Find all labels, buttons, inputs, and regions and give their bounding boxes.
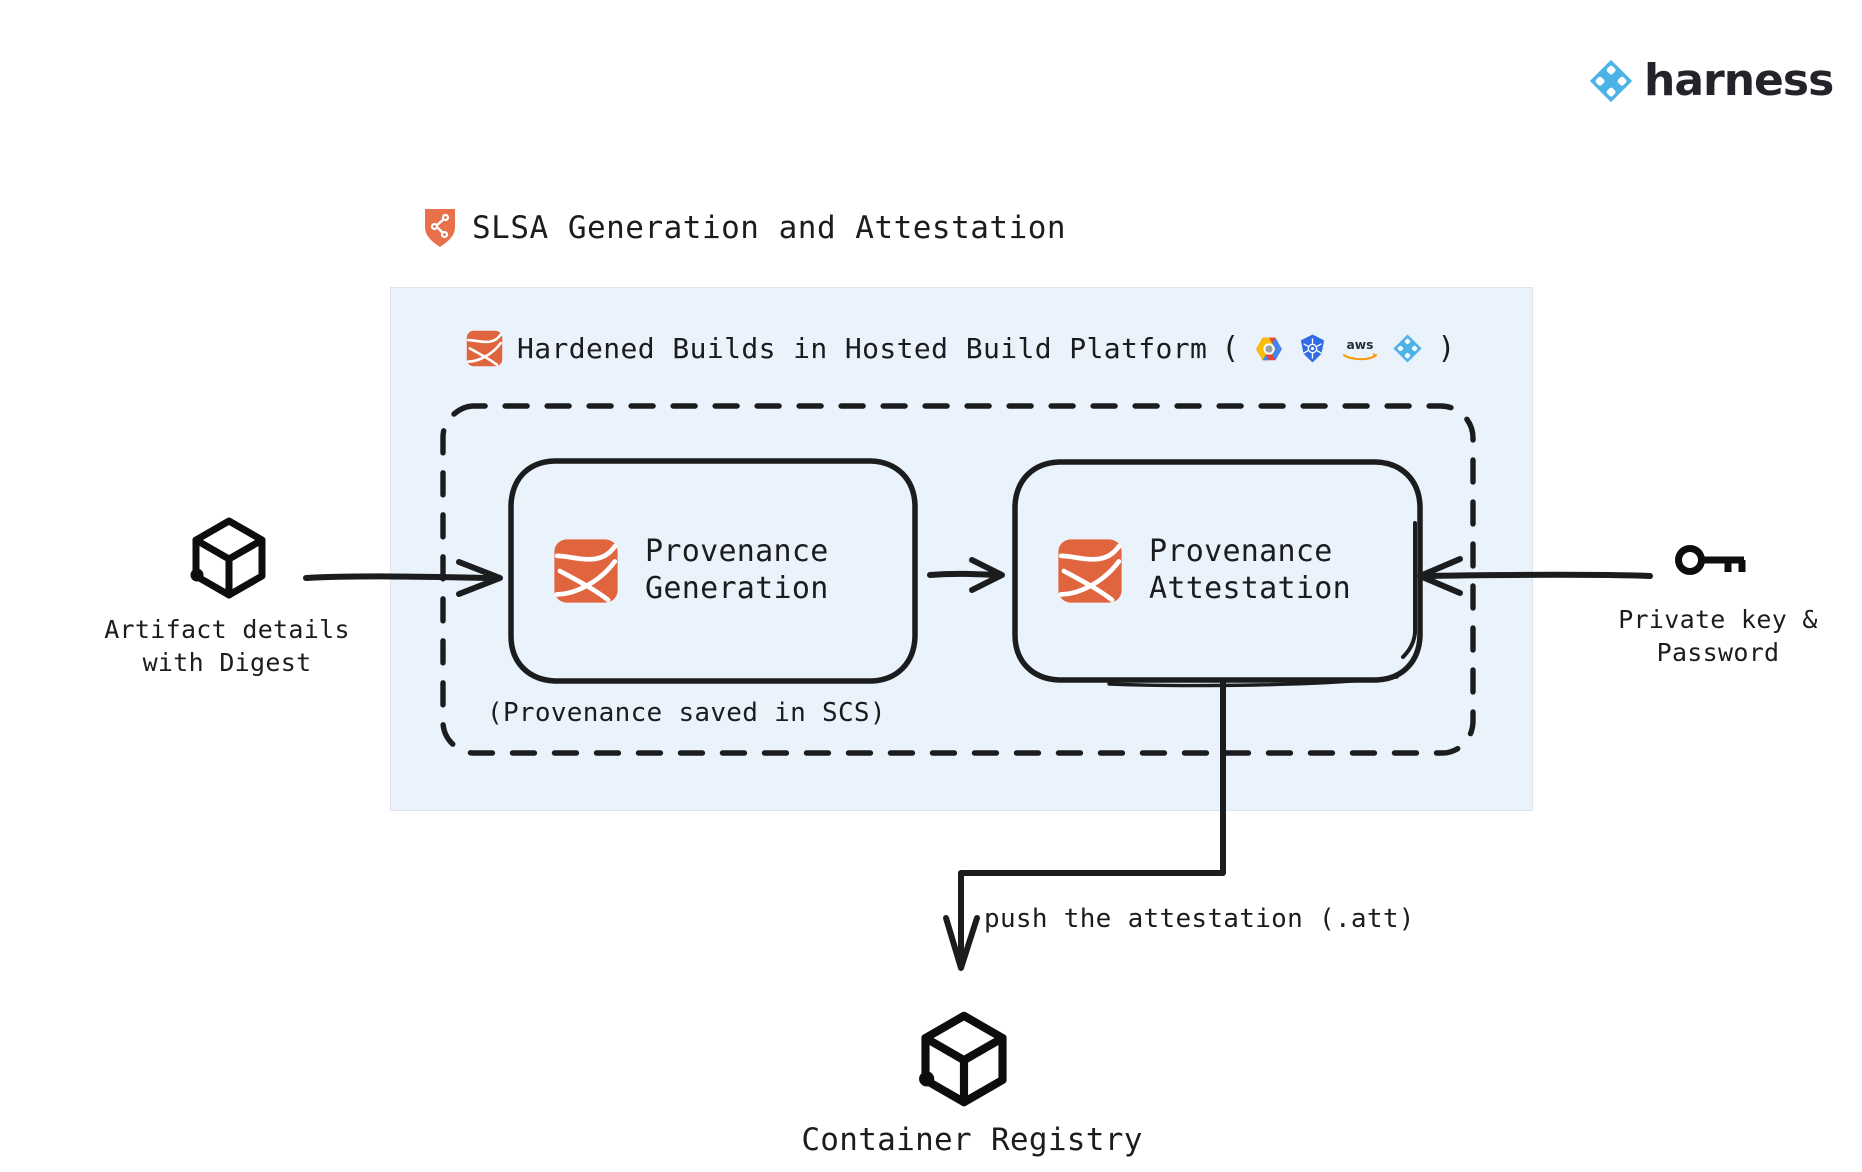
cube-icon xyxy=(190,516,268,600)
push-attestation-caption: push the attestation (.att) xyxy=(984,903,1415,937)
panel-heading: Hardened Builds in Hosted Build Platform… xyxy=(466,330,1455,367)
close-paren: ) xyxy=(1437,331,1455,366)
provenance-generation-label: Provenance Generation xyxy=(645,534,829,607)
cube-icon xyxy=(918,1010,1010,1108)
harness-wordmark: harness xyxy=(1644,59,1833,103)
slsa-shield-icon xyxy=(424,208,456,248)
harness-module-icon xyxy=(553,538,619,604)
aws-icon: aws xyxy=(1340,335,1380,363)
container-registry-caption: Container Registry xyxy=(792,1120,1152,1160)
provenance-attestation-label: Provenance Attestation xyxy=(1149,534,1351,607)
section-title-text: SLSA Generation and Attestation xyxy=(472,210,1066,246)
panel-heading-text: Hardened Builds in Hosted Build Platform xyxy=(517,332,1207,365)
key-icon xyxy=(1673,543,1749,583)
diagram-canvas: harness SLSA Generation and Attestation xyxy=(0,0,1862,1172)
private-key-caption: Private key & Password xyxy=(1618,604,1818,669)
svg-text:aws: aws xyxy=(1347,338,1374,352)
section-title: SLSA Generation and Attestation xyxy=(424,208,1066,248)
harness-module-icon xyxy=(466,330,503,367)
platform-logo-list: aws xyxy=(1253,333,1423,365)
harness-icon xyxy=(1392,333,1423,364)
kubernetes-icon xyxy=(1297,333,1328,364)
harness-brand-logo: harness xyxy=(1588,58,1833,104)
gcp-icon xyxy=(1253,333,1285,365)
artifact-details-caption: Artifact details with Digest xyxy=(92,614,362,679)
provenance-generation-box[interactable]: Provenance Generation xyxy=(511,462,915,680)
harness-module-icon xyxy=(1057,538,1123,604)
open-paren: ( xyxy=(1221,331,1239,366)
provenance-attestation-box[interactable]: Provenance Attestation xyxy=(1015,463,1420,678)
harness-diamond-icon xyxy=(1588,58,1634,104)
provenance-saved-caption: (Provenance saved in SCS) xyxy=(487,697,886,731)
